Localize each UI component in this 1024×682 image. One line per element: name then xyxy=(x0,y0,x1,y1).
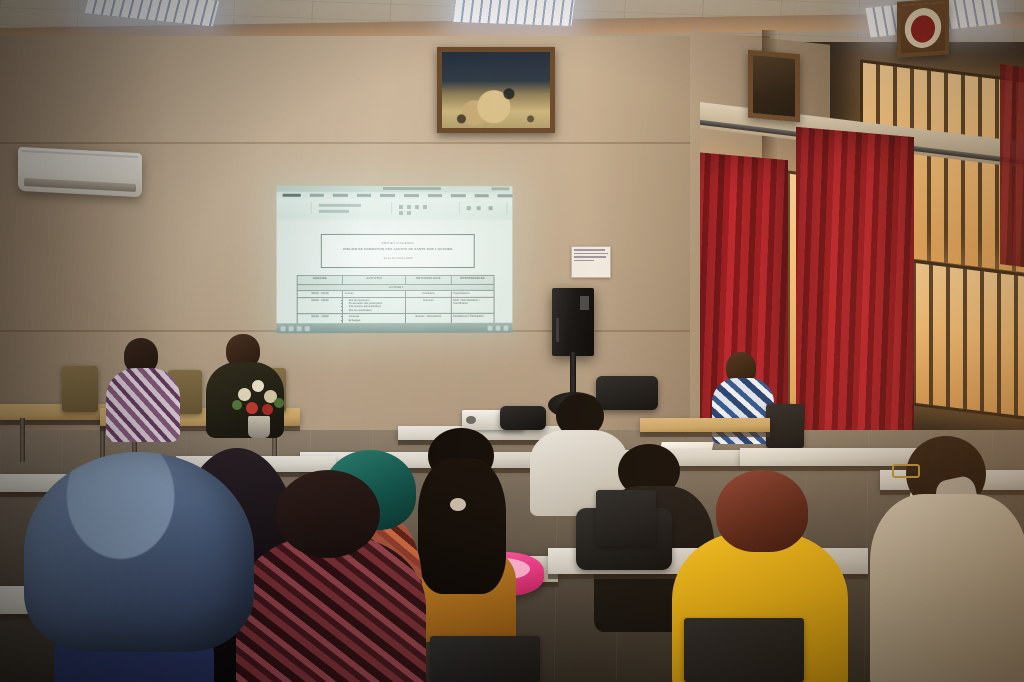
doc-title-line3: 10 au 12 octobre 2024 xyxy=(384,257,413,260)
tab-aide[interactable] xyxy=(498,194,512,197)
volume-icon[interactable] xyxy=(496,325,501,330)
document-page: PROJET D'AGENDA ATELIER DE FORMATION DES… xyxy=(277,220,513,323)
col-horaire: HORAIRE xyxy=(297,276,343,285)
table-row: 09h00 - 09h30 Mot de bienvenue Presentat… xyxy=(297,297,494,314)
activity-item: Mot du coordinateur xyxy=(349,309,404,312)
doc-title-line2: ATELIER DE FORMATION DES AGENTS DE SANTE… xyxy=(343,248,453,251)
head xyxy=(276,470,380,558)
agenda-table: HORAIRE ACTIVITES METHODOLOGIE RESPONSAB… xyxy=(297,275,495,324)
cell-responsables: MCD / Administration / Coordination xyxy=(451,297,494,313)
document-title-box: PROJET D'AGENDA ATELIER DE FORMATION DES… xyxy=(321,234,475,268)
person-beige-shirt-glasses xyxy=(876,436,1024,682)
activity-item: Echanges xyxy=(349,319,404,322)
chair[interactable] xyxy=(430,636,540,682)
cell-methodologie: Discours xyxy=(406,297,451,313)
tab-affichage[interactable] xyxy=(475,194,490,197)
cell-horaire: 09h00 - 09h30 xyxy=(297,297,343,314)
clock-display[interactable] xyxy=(503,325,508,330)
air-conditioner xyxy=(18,150,142,194)
tab-accueil[interactable] xyxy=(309,194,324,197)
taskbar[interactable] xyxy=(277,323,513,334)
vase xyxy=(248,416,270,438)
classroom-scene: PROJET D'AGENDA ATELIER DE FORMATION DES… xyxy=(0,0,1024,682)
curtain[interactable] xyxy=(1000,64,1024,268)
network-icon[interactable] xyxy=(488,325,493,330)
ceiling-light-panel xyxy=(453,0,574,26)
projection-screen: PROJET D'AGENDA ATELIER DE FORMATION DES… xyxy=(277,186,513,334)
headwrap xyxy=(716,470,808,552)
crest-plaque xyxy=(897,0,949,58)
chair[interactable] xyxy=(596,490,656,546)
cell-activites: Mot de bienvenue Presentation des partic… xyxy=(343,297,406,314)
tab-references[interactable] xyxy=(404,194,419,197)
tab-insertion[interactable] xyxy=(333,194,348,197)
hair-clip xyxy=(450,498,466,511)
wall-notice xyxy=(571,246,611,278)
col-activites: ACTIVITES xyxy=(343,275,406,284)
veil xyxy=(24,452,254,652)
torso xyxy=(106,368,180,442)
person-blue-veil xyxy=(24,452,254,682)
landscape-painting xyxy=(437,47,555,133)
tab-publipostage[interactable] xyxy=(428,194,443,197)
app-ribbon xyxy=(277,186,513,222)
word-icon[interactable] xyxy=(305,326,310,331)
hair xyxy=(418,458,506,594)
title-bar xyxy=(277,186,513,193)
start-icon[interactable] xyxy=(281,326,286,331)
activity-list: Mot de bienvenue Presentation des partic… xyxy=(345,299,404,313)
chair[interactable] xyxy=(684,618,804,682)
table-header-row: HORAIRE ACTIVITES METHODOLOGIE RESPONSAB… xyxy=(297,275,494,284)
person-woman-patterned-outfit xyxy=(106,338,182,444)
tab-fichier[interactable] xyxy=(283,194,301,197)
doc-title-line1: PROJET D'AGENDA xyxy=(382,242,415,245)
torso xyxy=(870,494,1024,682)
pa-speaker xyxy=(552,288,594,356)
chair[interactable] xyxy=(62,366,98,412)
tab-revision[interactable] xyxy=(451,194,466,197)
col-responsables: RESPONSABLES xyxy=(451,275,494,284)
tab-creation[interactable] xyxy=(357,194,372,197)
desk xyxy=(640,418,770,432)
small-dark-painting xyxy=(748,50,800,123)
chair[interactable] xyxy=(766,404,804,448)
activity-list: Contexte Echanges xyxy=(345,315,404,322)
folder-icon[interactable] xyxy=(297,326,302,331)
eyeglasses xyxy=(892,464,920,478)
ribbon-toolbar[interactable] xyxy=(277,199,513,218)
search-icon[interactable] xyxy=(289,326,294,331)
col-methodologie: METHODOLOGIE xyxy=(406,275,451,284)
tab-mise-en-page[interactable] xyxy=(380,194,395,197)
person-maroon-print xyxy=(236,470,426,682)
